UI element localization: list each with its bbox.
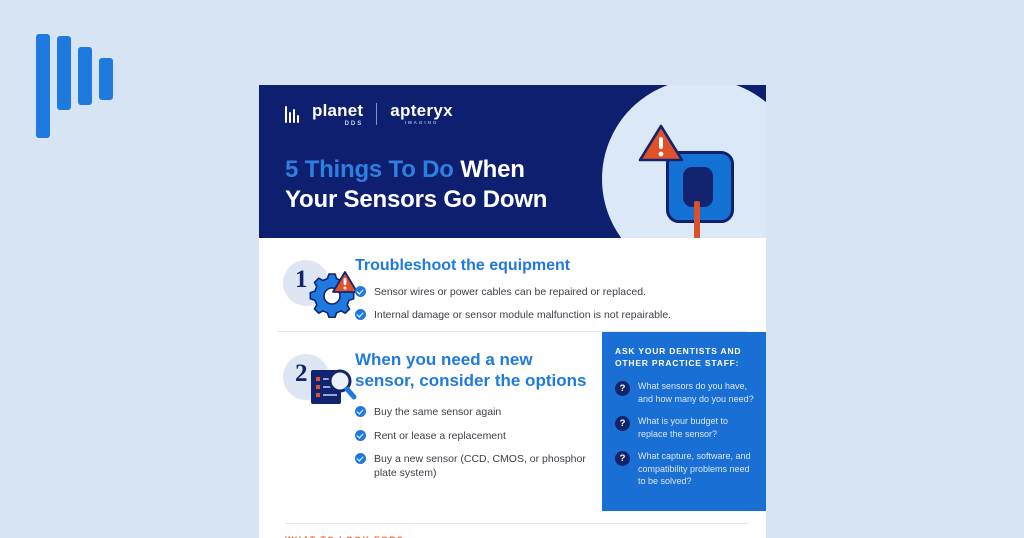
step-1-badge: 1 bbox=[259, 256, 355, 330]
apteryx-sub: IMAGING bbox=[390, 121, 453, 126]
list-item: ? What capture, software, and compatibil… bbox=[615, 450, 754, 487]
step-1-title: Troubleshoot the equipment bbox=[355, 256, 752, 276]
step-2-number: 2 bbox=[295, 360, 308, 388]
step-1: 1 Troubleshoot the equipment Sensor bbox=[259, 238, 766, 331]
step-2-title: When you need a new sensor, consider the… bbox=[355, 350, 588, 391]
bottom-section: WHAT TO LOOK FOR? bbox=[259, 511, 766, 538]
check-icon bbox=[355, 286, 366, 297]
step-2-bullets: Buy the same sensor again Rent or lease … bbox=[355, 405, 588, 480]
dental-sensor-illustration bbox=[628, 123, 748, 238]
ask-panel-questions: ? What sensors do you have, and how many… bbox=[615, 380, 754, 487]
brandmark-bar-4 bbox=[99, 58, 113, 100]
step-2-section: 2 When you need a new sensor, con bbox=[259, 332, 766, 511]
step-2: 2 When you need a new sensor, con bbox=[259, 332, 602, 511]
question-text: What is your budget to replace the senso… bbox=[638, 415, 754, 440]
check-icon bbox=[355, 430, 366, 441]
question-text: What sensors do you have, and how many d… bbox=[638, 380, 754, 405]
ask-panel-title: ASK YOUR DENTISTS AND OTHER PRACTICE STA… bbox=[615, 345, 754, 370]
brandmark-bar-3 bbox=[78, 47, 92, 105]
bottom-divider bbox=[285, 523, 748, 524]
step-1-number: 1 bbox=[295, 266, 308, 294]
warning-triangle-icon bbox=[638, 123, 684, 163]
brand-logo: planet DDS apteryx IMAGING bbox=[285, 101, 453, 127]
check-icon bbox=[355, 406, 366, 417]
list-item: ? What is your budget to replace the sen… bbox=[615, 415, 754, 440]
title-accent: 5 Things To Do bbox=[285, 156, 454, 183]
step-1-body: Troubleshoot the equipment Sensor wires … bbox=[355, 256, 766, 331]
step-2-badge: 2 bbox=[259, 350, 355, 424]
check-icon bbox=[355, 309, 366, 320]
list-item: Buy a new sensor (CCD, CMOS, or phosphor… bbox=[355, 452, 588, 480]
planet-sub: DDS bbox=[312, 121, 363, 127]
bullet-text: Buy the same sensor again bbox=[374, 405, 501, 419]
apteryx-name: apteryx bbox=[390, 102, 453, 119]
planet-wordmark: planet DDS bbox=[312, 102, 363, 127]
card-header: planet DDS apteryx IMAGING 5 Things To D… bbox=[259, 85, 766, 238]
list-item: ? What sensors do you have, and how many… bbox=[615, 380, 754, 405]
question-mark-icon: ? bbox=[615, 416, 630, 431]
planet-logo-bars-icon bbox=[285, 106, 299, 123]
gear-warning-icon bbox=[307, 268, 359, 318]
planet-dds-brandmark bbox=[36, 34, 122, 138]
step-2-body: When you need a new sensor, consider the… bbox=[355, 350, 602, 489]
question-text: What capture, software, and compatibilit… bbox=[638, 450, 754, 487]
sensor-cable-shape bbox=[694, 201, 700, 238]
clipboard-magnifier-icon bbox=[307, 362, 359, 412]
list-item: Rent or lease a replacement bbox=[355, 429, 588, 443]
bullet-text: Internal damage or sensor module malfunc… bbox=[374, 308, 671, 322]
ask-staff-panel: ASK YOUR DENTISTS AND OTHER PRACTICE STA… bbox=[602, 332, 766, 511]
title-rest: When bbox=[454, 156, 525, 183]
list-item: Sensor wires or power cables can be repa… bbox=[355, 285, 752, 299]
brandmark-bar-1 bbox=[36, 34, 50, 138]
infographic-card: planet DDS apteryx IMAGING 5 Things To D… bbox=[259, 85, 766, 538]
question-mark-icon: ? bbox=[615, 451, 630, 466]
planet-name: planet bbox=[312, 102, 363, 119]
step-1-bullets: Sensor wires or power cables can be repa… bbox=[355, 285, 752, 322]
bullet-text: Buy a new sensor (CCD, CMOS, or phosphor… bbox=[374, 452, 588, 480]
logo-divider bbox=[376, 103, 377, 125]
question-mark-icon: ? bbox=[615, 381, 630, 396]
list-item: Buy the same sensor again bbox=[355, 405, 588, 419]
title-line2: Your Sensors Go Down bbox=[285, 186, 547, 213]
page-title: 5 Things To Do When Your Sensors Go Down bbox=[285, 155, 547, 215]
bullet-text: Rent or lease a replacement bbox=[374, 429, 506, 443]
bullet-text: Sensor wires or power cables can be repa… bbox=[374, 285, 646, 299]
brandmark-bar-2 bbox=[57, 36, 71, 110]
check-icon bbox=[355, 453, 366, 464]
apteryx-wordmark: apteryx IMAGING bbox=[390, 102, 453, 126]
list-item: Internal damage or sensor module malfunc… bbox=[355, 308, 752, 322]
